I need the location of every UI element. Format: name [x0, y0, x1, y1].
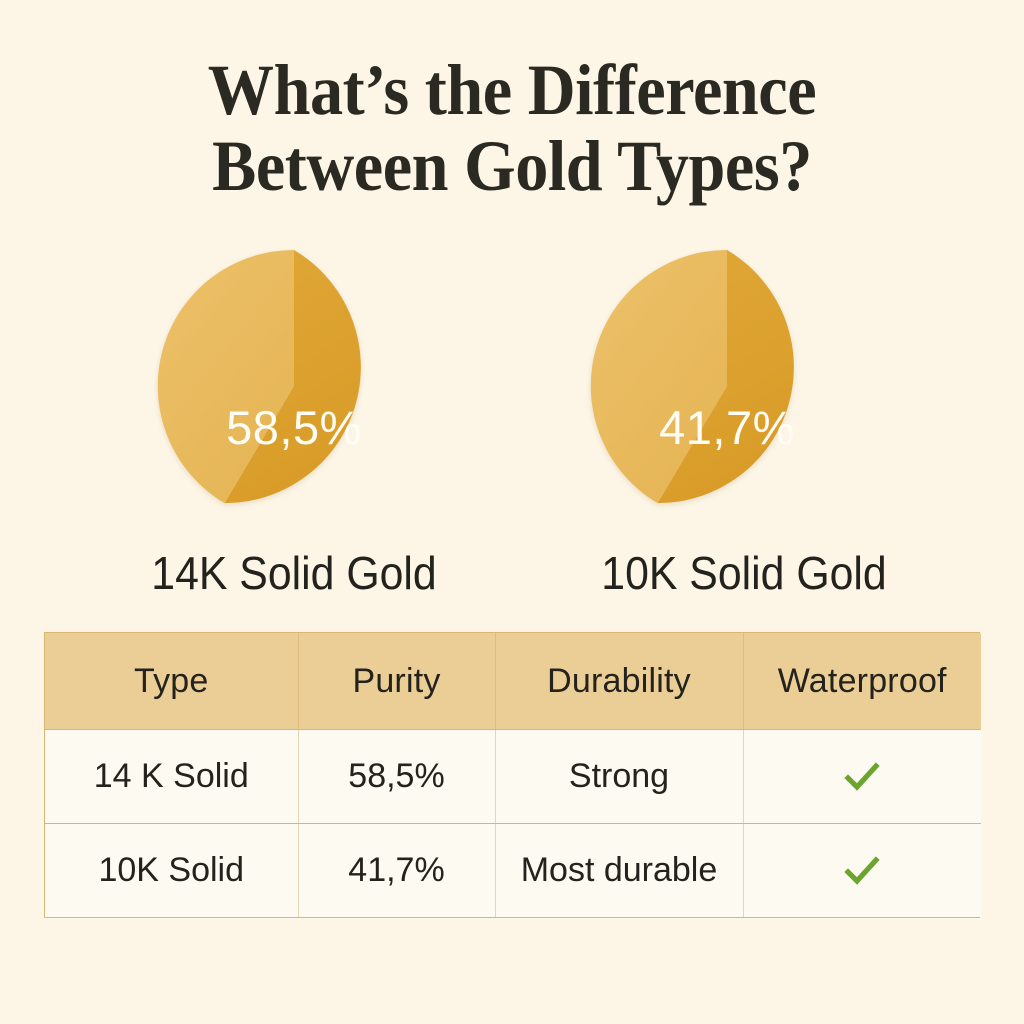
comparison-table: Type Purity Durability Waterproof 14 K S… [44, 632, 980, 918]
cell-durability: Most durable [495, 824, 743, 918]
gold-types-infographic: What’s the Difference Between Gold Types… [0, 0, 1024, 1024]
cell-waterproof [743, 824, 981, 918]
page-title: What’s the Difference Between Gold Types… [0, 52, 1024, 204]
pie-captions: 14K Solid Gold 10K Solid Gold [0, 545, 1024, 607]
pie-chart-10k-svg [589, 248, 865, 524]
table-row: 10K Solid 41,7% Most durable [45, 824, 981, 918]
table-header-type: Type [45, 633, 298, 730]
cell-type: 10K Solid [45, 824, 298, 918]
table-row: 14 K Solid 58,5% Strong [45, 730, 981, 824]
cell-purity: 58,5% [298, 730, 495, 824]
pie-chart-14k: 58,5% [156, 248, 432, 538]
cell-purity: 41,7% [298, 824, 495, 918]
check-icon [841, 850, 883, 892]
table-header-durability: Durability [495, 633, 743, 730]
table-header-row: Type Purity Durability Waterproof [45, 633, 981, 730]
cell-durability: Strong [495, 730, 743, 824]
check-icon [841, 756, 883, 798]
pie-caption-14k: 14K Solid Gold [99, 545, 490, 601]
table-header-purity: Purity [298, 633, 495, 730]
page-title-line-1: What’s the Difference [41, 52, 983, 128]
pie-chart-group: 58,5% 41,7% [0, 248, 1024, 538]
pie-caption-10k: 10K Solid Gold [549, 545, 940, 601]
table-header-waterproof: Waterproof [743, 633, 981, 730]
pie-chart-10k: 41,7% [589, 248, 865, 538]
cell-type: 14 K Solid [45, 730, 298, 824]
pie-chart-14k-svg [156, 248, 432, 524]
page-title-line-2: Between Gold Types? [41, 128, 983, 204]
cell-waterproof [743, 730, 981, 824]
